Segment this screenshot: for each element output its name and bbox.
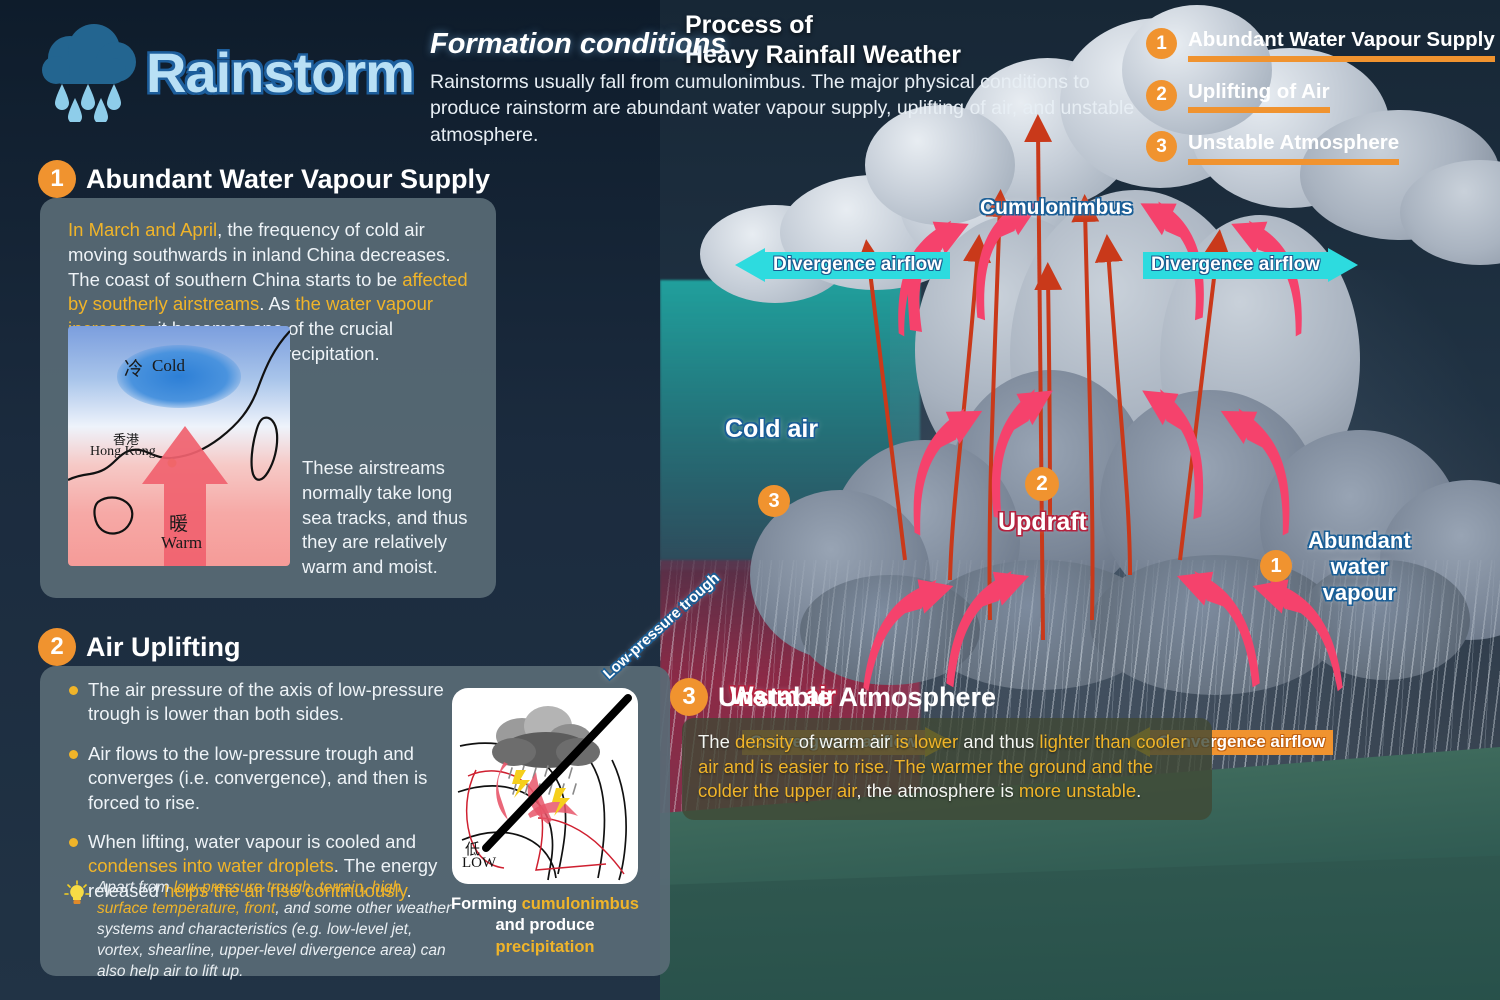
section2-panel: The air pressure of the axis of low-pres… — [40, 666, 670, 976]
rain-cloud-icon — [36, 22, 140, 122]
lp-cap-d: precipitation — [495, 938, 594, 956]
section3-badge: 3 — [670, 678, 708, 716]
s3-i: . — [1136, 780, 1141, 801]
section1-title: Abundant Water Vapour Supply — [86, 164, 490, 195]
map-cold-cn: 冷 — [124, 354, 143, 381]
lp-caption-line2: and produce precipitation — [444, 915, 646, 958]
s2-b1: The air pressure of the axis of low-pres… — [88, 679, 444, 724]
conditions-list: 1 Abundant Water Vapour Supply 2 Uplifti… — [1146, 28, 1495, 183]
label-cold-air: Cold air — [725, 415, 818, 444]
section2-tip: Apart from low-pressure trough, terrain,… — [64, 878, 452, 983]
s3-h: more unstable — [1019, 780, 1136, 801]
s1-p1-d: . As — [259, 293, 295, 314]
toc-badge-3: 3 — [1146, 131, 1177, 162]
header-block: Formation conditions Rainstorms usually … — [430, 28, 1140, 148]
list-item: The air pressure of the axis of low-pres… — [66, 678, 448, 727]
label-abundant-water-vapour: Abundant water vapour — [1308, 528, 1411, 606]
abundant-line1: Abundant — [1308, 528, 1411, 554]
divergence-right-label: Divergence airflow — [1143, 252, 1328, 279]
s3-e: and thus — [958, 731, 1039, 752]
abundant-line2: water — [1308, 554, 1411, 580]
toc-item-3[interactable]: 3 Unstable Atmosphere — [1146, 131, 1495, 165]
s3-c: of warm air — [794, 731, 896, 752]
lightbulb-icon — [64, 880, 90, 906]
list-item: Air flows to the low-pressure trough and… — [66, 742, 448, 815]
toc-label-3: Unstable Atmosphere — [1188, 131, 1399, 165]
s3-b: density — [735, 731, 794, 752]
section2-title: Air Uplifting — [86, 632, 240, 663]
toc-badge-2: 2 — [1146, 80, 1177, 111]
s2-b2: Air flows to the low-pressure trough and… — [88, 743, 427, 813]
lp-caption: Forming cumulonimbus and produce precipi… — [444, 894, 646, 958]
section2-header: 2 Air Uplifting — [38, 628, 240, 666]
lp-cap-a: Forming — [451, 895, 522, 913]
toc-label-1: Abundant Water Vapour Supply — [1188, 28, 1495, 62]
diagram-badge-3: 3 — [758, 485, 790, 517]
section1-paragraph2: These airstreams normally take long sea … — [302, 456, 474, 580]
lp-low-en: LOW — [462, 855, 496, 872]
section3-header: 3 Unstable Atmosphere — [670, 678, 996, 716]
label-cumulonimbus: Cumulonimbus — [980, 196, 1133, 220]
toc-item-1[interactable]: 1 Abundant Water Vapour Supply — [1146, 28, 1495, 62]
section1-panel: In March and April, the frequency of col… — [40, 198, 496, 598]
map-cold-en: Cold — [152, 356, 185, 376]
logo: Rainstorm — [36, 22, 414, 122]
section3-panel: The density of warm air is lower and thu… — [682, 718, 1212, 820]
section3-body: The density of warm air is lower and thu… — [698, 730, 1196, 804]
s3-g: , the atmosphere is — [856, 780, 1018, 801]
section3-title: Unstable Atmosphere — [718, 682, 996, 713]
low-pressure-trough-diagram: 低 LOW — [452, 688, 638, 884]
map-warm-cn: 暖 — [169, 509, 188, 536]
divergence-airflow-left: Divergence airflow — [735, 248, 950, 282]
diagram-badge-1: 1 — [1260, 550, 1292, 582]
abundant-line3: vapour — [1308, 580, 1411, 606]
s3-d: is lower — [895, 731, 958, 752]
hong-kong-airstream-map: 冷 Cold 香港 Hong Kong 暖 Warm — [68, 326, 290, 566]
label-updraft: Updraft — [998, 508, 1087, 537]
map-hk-en: Hong Kong — [90, 444, 156, 460]
s1-p1-a: In March and April — [68, 219, 217, 240]
section1-badge: 1 — [38, 160, 76, 198]
section1-header: 1 Abundant Water Vapour Supply — [38, 160, 490, 198]
map-warm-en: Warm — [161, 533, 202, 553]
s2-b3-a: When lifting, water vapour is cooled and — [88, 831, 416, 852]
infographic-canvas: Process of Heavy Rainfall Weather Cumulo… — [0, 0, 1500, 1000]
header-body: Rainstorms usually fall from cumulonimbu… — [430, 69, 1140, 148]
diagram-badge-2: 2 — [1025, 467, 1059, 501]
lp-caption-line1: Forming cumulonimbus — [444, 894, 646, 915]
lp-cap-c: and produce — [495, 916, 594, 934]
section2-tip-text: Apart from low-pressure trough, terrain,… — [97, 878, 452, 983]
toc-badge-1: 1 — [1146, 28, 1177, 59]
lp-cap-b: cumulonimbus — [522, 895, 639, 913]
toc-label-2: Uplifting of Air — [1188, 80, 1330, 114]
s2-b3-b: condenses into water droplets — [88, 855, 334, 876]
header-title: Formation conditions — [430, 28, 1140, 61]
toc-item-2[interactable]: 2 Uplifting of Air — [1146, 80, 1495, 114]
s3-a: The — [698, 731, 735, 752]
logo-title: Rainstorm — [146, 40, 414, 105]
divergence-airflow-right: Divergence airflow — [1143, 248, 1358, 282]
divergence-left-label: Divergence airflow — [765, 252, 950, 279]
s2-tip-a: Apart from — [97, 879, 174, 896]
section2-badge: 2 — [38, 628, 76, 666]
